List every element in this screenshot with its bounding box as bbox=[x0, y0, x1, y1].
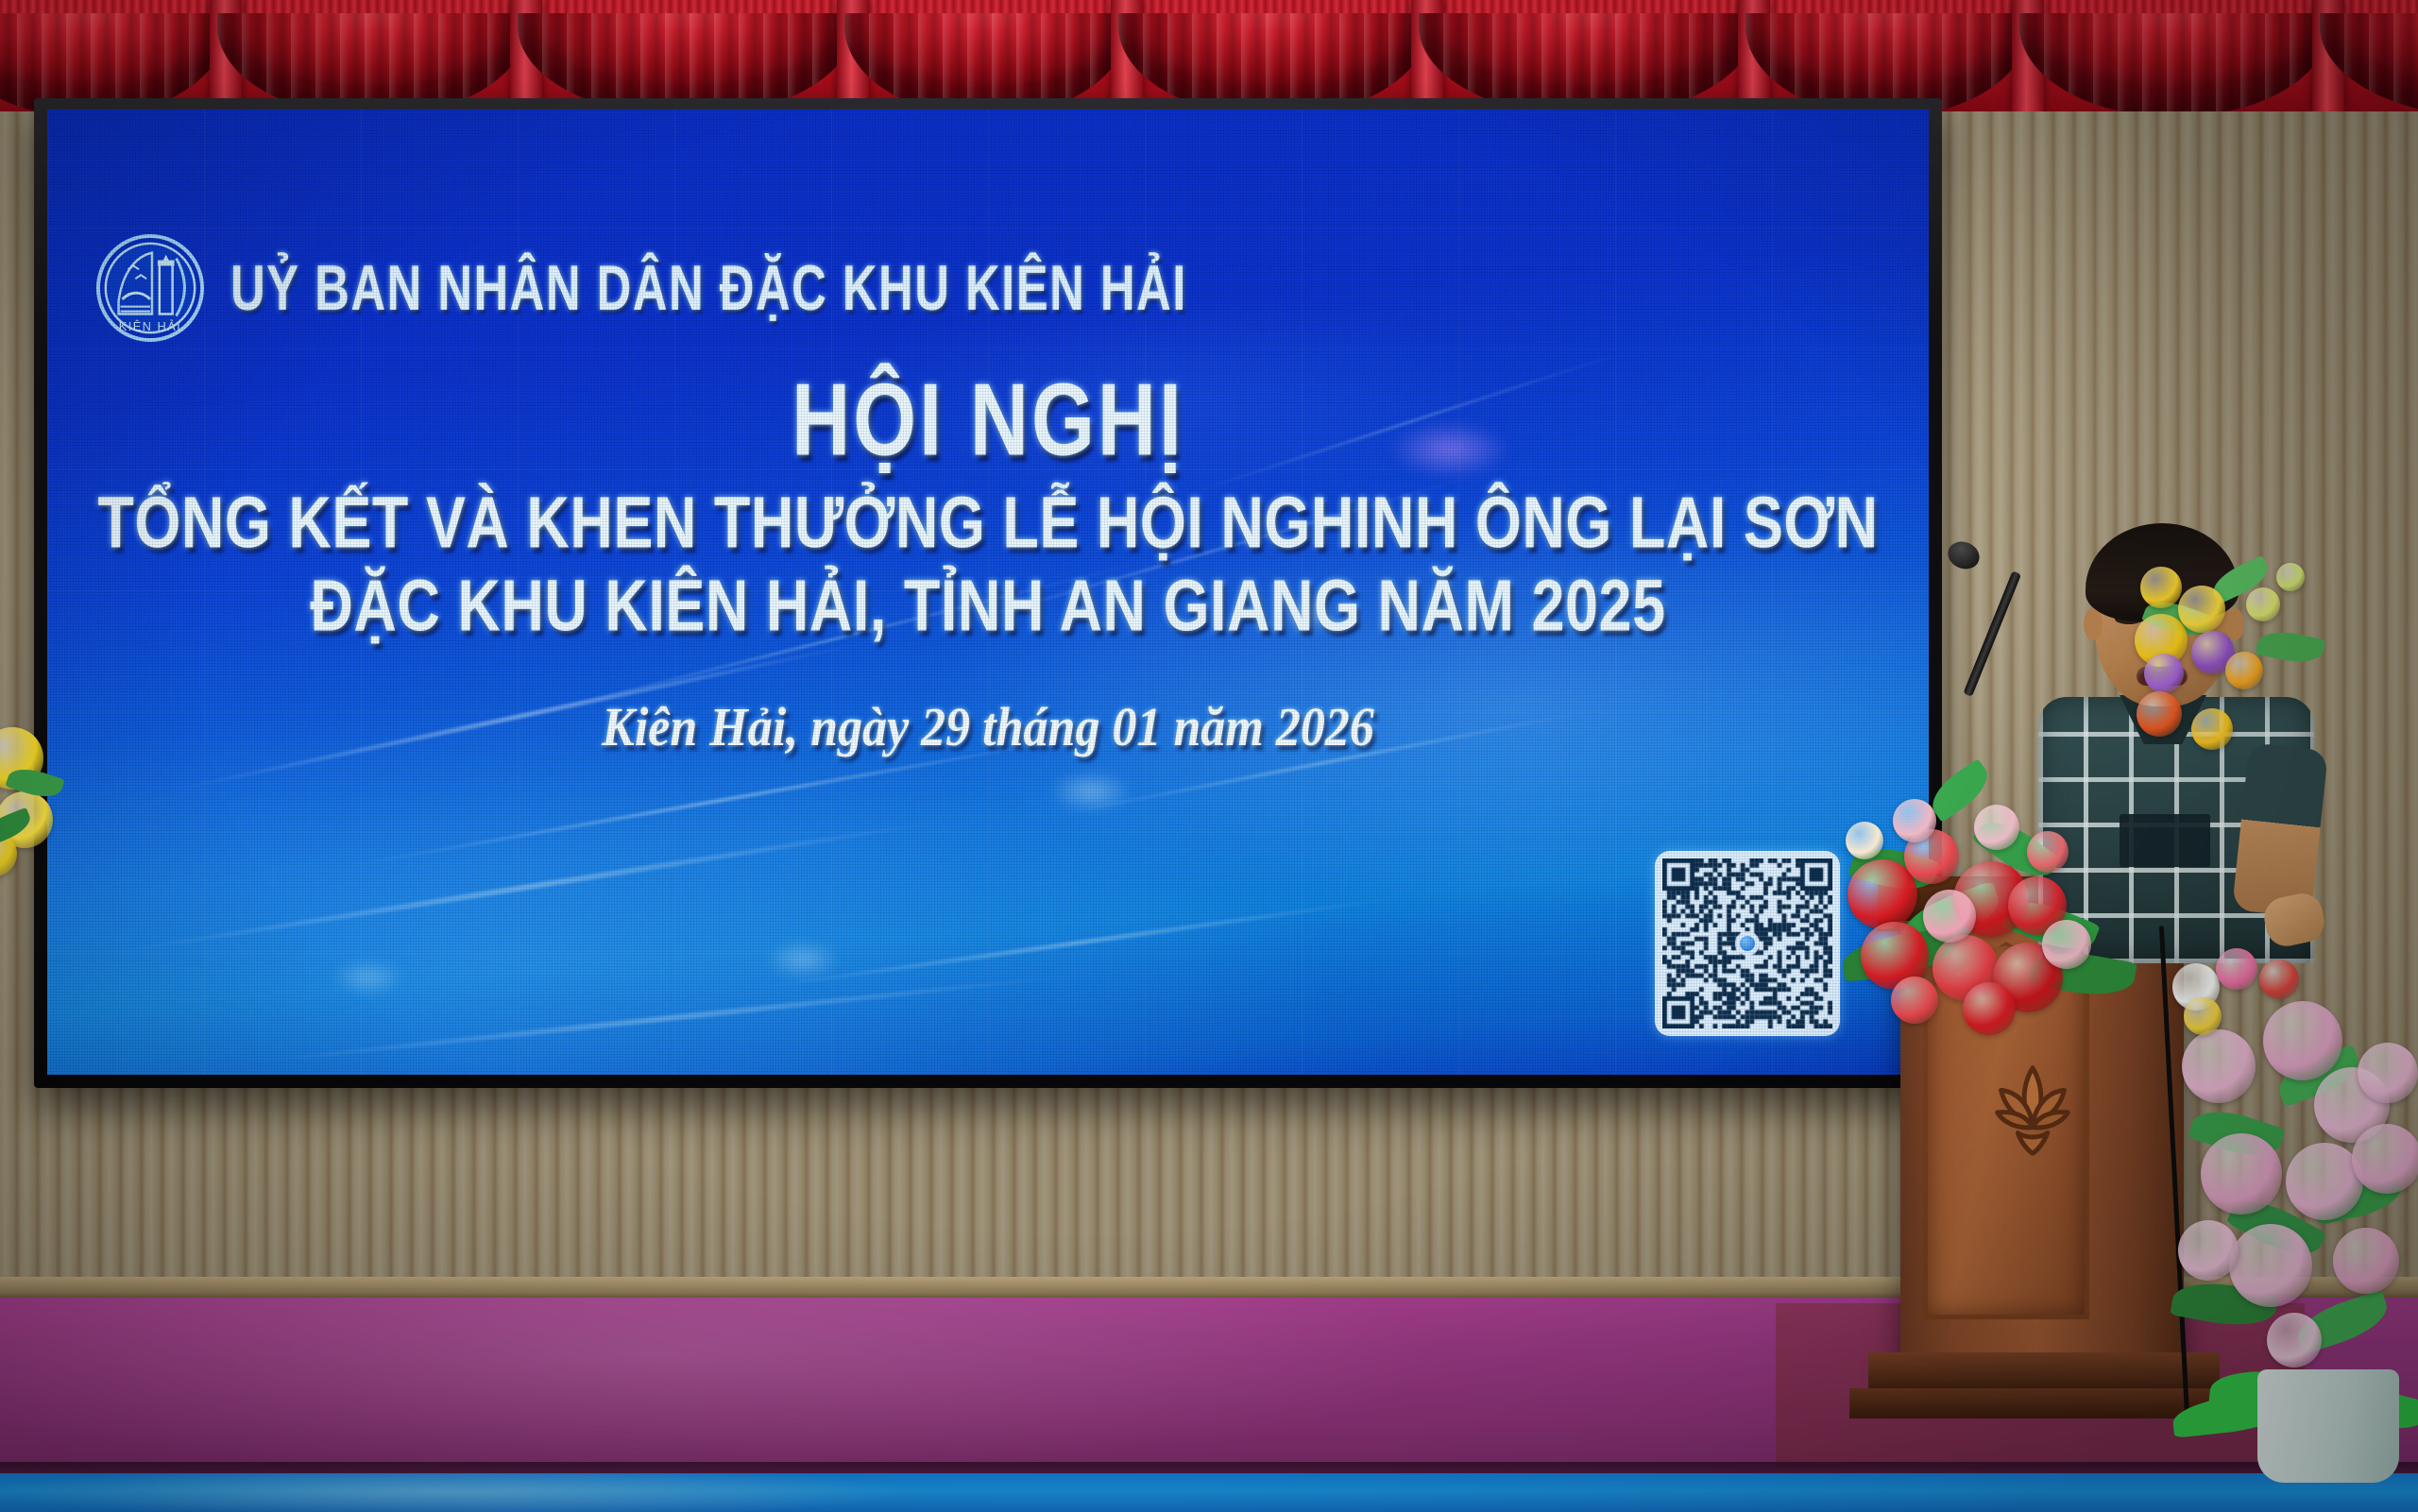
pink-hydrangea bbox=[2229, 1224, 2312, 1307]
purple-orchid bbox=[2144, 654, 2184, 693]
led-screen-bezel: KIÊN HẢI UỶ BAN NHÂN DÂN ĐẶC KHU KIÊN HẢ… bbox=[34, 98, 1942, 1088]
red-carnation bbox=[2027, 831, 2069, 873]
curtain-swag bbox=[217, 13, 527, 111]
pink-hydrangea bbox=[2263, 1001, 2342, 1080]
flower-leaf bbox=[2256, 626, 2326, 668]
blue-floor-carpet bbox=[0, 1473, 2418, 1512]
kien-hai-emblem-icon: KIÊN HẢI bbox=[94, 232, 206, 344]
yellow-orchid bbox=[2140, 567, 2182, 608]
yellow-bloom bbox=[2184, 997, 2222, 1035]
curtain-swag bbox=[0, 13, 227, 111]
pink-hydrangea bbox=[2333, 1228, 2399, 1294]
green-bud bbox=[2246, 587, 2280, 621]
slide-date-line: Kiên Hải, ngày 29 tháng 01 năm 2026 bbox=[47, 696, 1929, 758]
orange-bloom bbox=[2137, 691, 2182, 737]
screenshot-root: KIÊN HẢI UỶ BAN NHÂN DÂN ĐẶC KHU KIÊN HẢ… bbox=[0, 0, 2418, 1512]
slide-content: KIÊN HẢI UỶ BAN NHÂN DÂN ĐẶC KHU KIÊN HẢ… bbox=[47, 110, 1929, 1075]
pink-hydrangea bbox=[2182, 1029, 2256, 1103]
slide-subtitle-line-2: ĐẶC KHU KIÊN HẢI, TỈNH AN GIANG NĂM 2025 bbox=[47, 565, 1929, 648]
yellow-orchid bbox=[2178, 586, 2225, 633]
red-carnation bbox=[1891, 977, 1938, 1024]
pink-hydrangea bbox=[2352, 1124, 2418, 1194]
organization-name: UỶ BAN NHÂN DÂN ĐẶC KHU KIÊN HẢI bbox=[230, 251, 1187, 325]
qr-code[interactable] bbox=[1655, 851, 1840, 1036]
pink-hydrangea bbox=[2178, 1220, 2239, 1281]
pink-rose bbox=[1923, 890, 1976, 943]
pink-hydrangea bbox=[2201, 1133, 2282, 1215]
organization-header: KIÊN HẢI UỶ BAN NHÂN DÂN ĐẶC KHU KIÊN HẢ… bbox=[94, 228, 1322, 348]
led-screen: KIÊN HẢI UỶ BAN NHÂN DÂN ĐẶC KHU KIÊN HẢ… bbox=[47, 110, 1929, 1075]
red-bloom bbox=[2259, 960, 2299, 999]
curtain-swag bbox=[1419, 13, 1755, 111]
curtain-swag bbox=[844, 13, 1128, 111]
pink-rose bbox=[1974, 805, 2019, 850]
cream-rose bbox=[1846, 822, 1883, 859]
pink-hydrangea bbox=[2267, 1313, 2322, 1368]
flower-arrangement-far-left bbox=[0, 718, 94, 888]
red-valance-curtain bbox=[0, 0, 2418, 111]
curtain-swag bbox=[1745, 13, 2029, 111]
pink-rose bbox=[2042, 920, 2091, 969]
curtain-swag bbox=[518, 13, 854, 111]
slide-subtitle-line-1: TỔNG KẾT VÀ KHEN THƯỞNG LỄ HỘI NGHINH ÔN… bbox=[47, 482, 1929, 565]
qr-center-logo-icon bbox=[1740, 936, 1755, 951]
curtain-swag bbox=[1118, 13, 1428, 111]
green-bud bbox=[2276, 563, 2305, 591]
lotus-carving-icon bbox=[1977, 1058, 2088, 1162]
pink-bloom bbox=[2216, 948, 2257, 990]
red-carnation bbox=[1963, 982, 2016, 1035]
pink-rose bbox=[1893, 799, 1936, 842]
pink-hydrangea bbox=[2358, 1043, 2418, 1103]
white-flower-pot bbox=[2257, 1369, 2399, 1483]
flower-arrangement-on-podium bbox=[1842, 718, 2125, 1029]
flower-arrangement-behind-podium bbox=[2135, 529, 2361, 850]
yellow-orchid bbox=[2191, 708, 2233, 750]
emblem-label: KIÊN HẢI bbox=[119, 319, 181, 333]
slide-heading: HỘI NGHỊ bbox=[47, 362, 1929, 480]
curtain-swag bbox=[2019, 13, 2329, 111]
orange-bloom bbox=[2225, 652, 2263, 689]
speaker-ear-left bbox=[2084, 608, 2103, 640]
